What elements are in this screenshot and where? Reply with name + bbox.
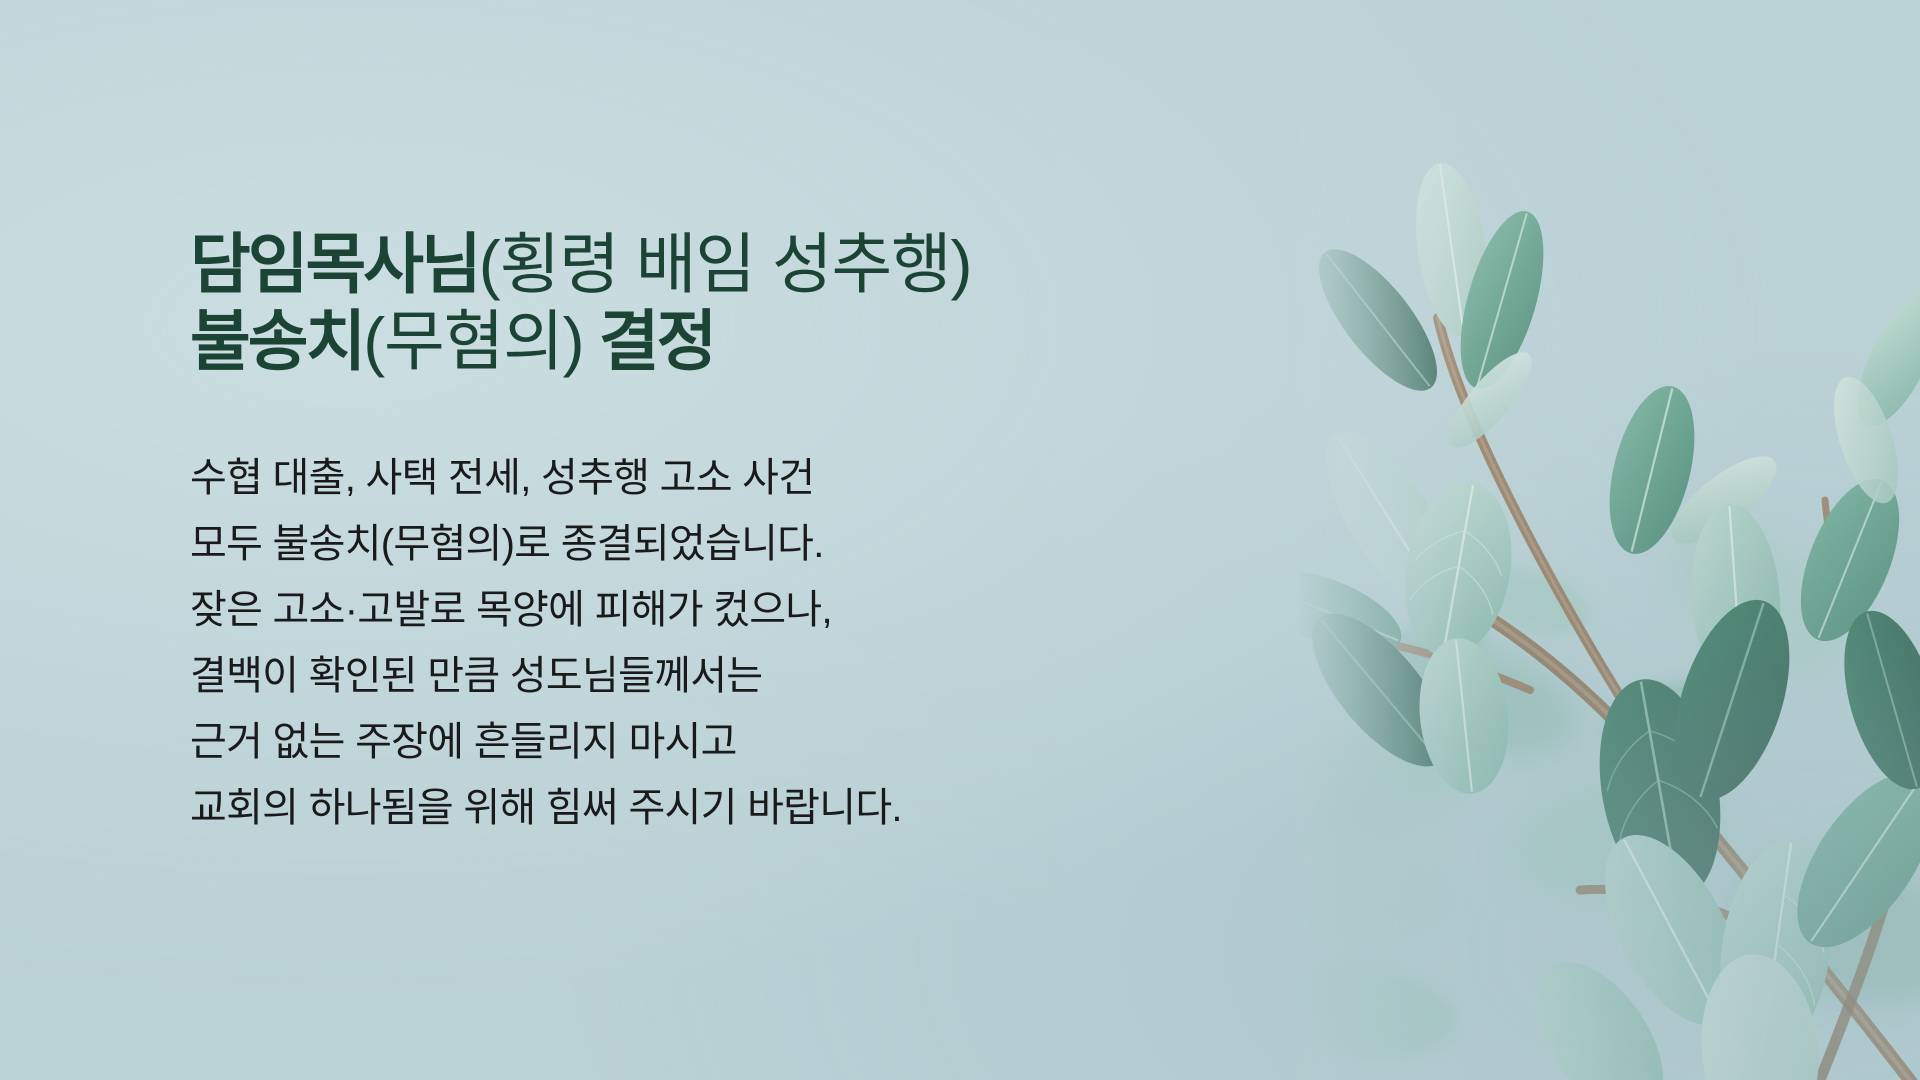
headline-line-2: 불송치(무혐의) 결정	[190, 303, 1240, 380]
headline-line-2-strong-2: 결정	[583, 304, 714, 378]
headline-line-1-light: (횡령 배임 성추행)	[479, 227, 972, 301]
headline-line-2-light: (무혐의)	[363, 304, 583, 378]
body-line: 근거 없는 주장에 흔들리지 마시고	[190, 709, 1240, 775]
body-line: 모두 불송치(무혐의)로 종결되었습니다.	[190, 511, 1240, 577]
body-line: 수협 대출, 사택 전세, 성추행 고소 사건	[190, 445, 1240, 511]
headline-line-1: 담임목사님(횡령 배임 성추행)	[190, 226, 1240, 303]
text-content-block: 담임목사님(횡령 배임 성추행) 불송치(무혐의) 결정 수협 대출, 사택 전…	[190, 226, 1240, 841]
body-line: 잦은 고소·고발로 목양에 피해가 컸으나,	[190, 577, 1240, 643]
announcement-banner: 담임목사님(횡령 배임 성추행) 불송치(무혐의) 결정 수협 대출, 사택 전…	[0, 0, 1920, 1080]
headline-line-2-strong: 불송치	[190, 304, 363, 378]
body-line: 결백이 확인된 만큼 성도님들께서는	[190, 643, 1240, 709]
headline-line-1-strong: 담임목사님	[190, 227, 479, 301]
body-line: 교회의 하나됨을 위해 힘써 주시기 바랍니다.	[190, 775, 1240, 841]
page-title: 담임목사님(횡령 배임 성추행) 불송치(무혐의) 결정	[190, 226, 1240, 379]
announcement-body: 수협 대출, 사택 전세, 성추행 고소 사건 모두 불송치(무혐의)로 종결되…	[190, 445, 1240, 841]
